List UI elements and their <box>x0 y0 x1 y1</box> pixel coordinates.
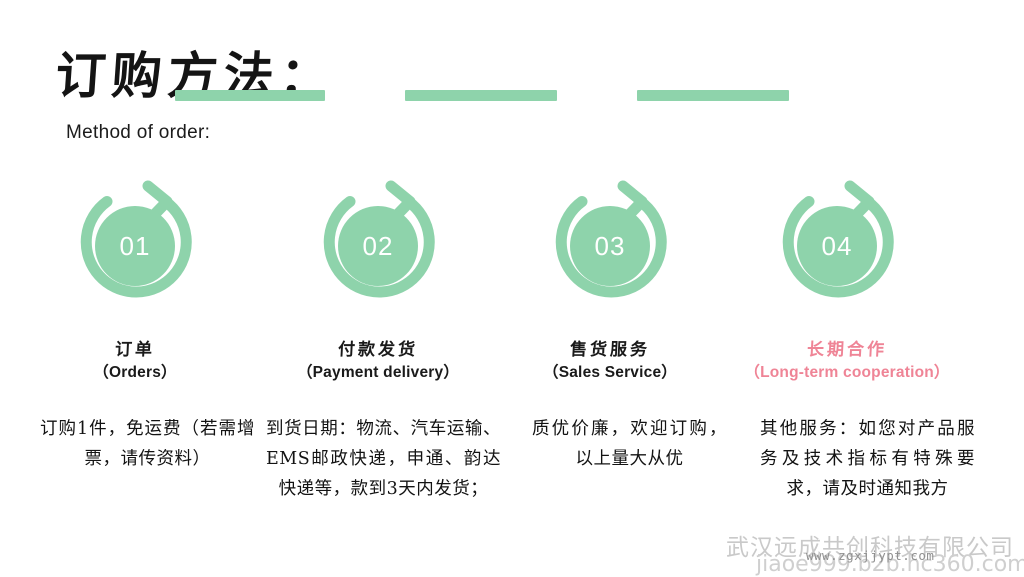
step-descriptions: 订购1件，免运费（若需增票，请传资料） 到货日期：物流、汽车运输、EMS邮政快递… <box>0 414 1024 544</box>
step-body-1: 订购1件，免运费（若需增票，请传资料） <box>40 414 255 474</box>
step-label-cn: 付款发货 <box>252 340 503 360</box>
process-step-4[interactable]: 04 <box>757 168 917 324</box>
slide-canvas: 订购方法： Method of order: 01 <box>0 0 1024 576</box>
watermark-site-url: www.zgxjjypt.com <box>806 548 934 563</box>
circular-arrow-icon <box>757 168 917 324</box>
step-label-en: （Sales Service） <box>485 362 735 384</box>
step-label-cn: 长期合作 <box>711 340 982 360</box>
step-label-en: （Orders） <box>10 362 260 384</box>
circular-arrow-icon <box>55 168 215 324</box>
circular-arrow-icon <box>530 168 690 324</box>
watermark-b2b-url: jiaoe999.b2b.hc360.com <box>756 552 1024 577</box>
step-body-3: 质优价廉，欢迎订购，以上量大从优 <box>532 414 727 474</box>
connector-2-3 <box>405 90 557 101</box>
process-step-3[interactable]: 03 <box>530 168 690 324</box>
step-label-4: 长期合作 （Long-term cooperation） <box>712 340 982 384</box>
process-flow: 01 02 03 <box>0 168 1024 328</box>
process-step-1[interactable]: 01 <box>55 168 215 324</box>
step-labels: 订单 （Orders） 付款发货 （Payment delivery） 售货服务… <box>0 340 1024 398</box>
process-step-2[interactable]: 02 <box>298 168 458 324</box>
step-body-2: 到货日期：物流、汽车运输、EMS邮政快递，申通、韵达快递等，款到3天内发货； <box>266 414 501 504</box>
connector-1-2 <box>175 90 325 101</box>
step-label-2: 付款发货 （Payment delivery） <box>253 340 503 384</box>
step-label-en: （Payment delivery） <box>253 362 503 384</box>
step-label-cn: 订单 <box>9 340 260 360</box>
page-title-en: Method of order: <box>66 122 210 144</box>
circular-arrow-icon <box>298 168 458 324</box>
step-label-1: 订单 （Orders） <box>10 340 260 384</box>
step-label-en: （Long-term cooperation） <box>712 362 982 384</box>
step-body-4: 其他服务：如您对产品服务及技术指标有特殊要求，请及时通知我方 <box>760 414 975 504</box>
step-label-3: 售货服务 （Sales Service） <box>485 340 735 384</box>
connector-3-4 <box>637 90 789 101</box>
step-label-cn: 售货服务 <box>484 340 735 360</box>
